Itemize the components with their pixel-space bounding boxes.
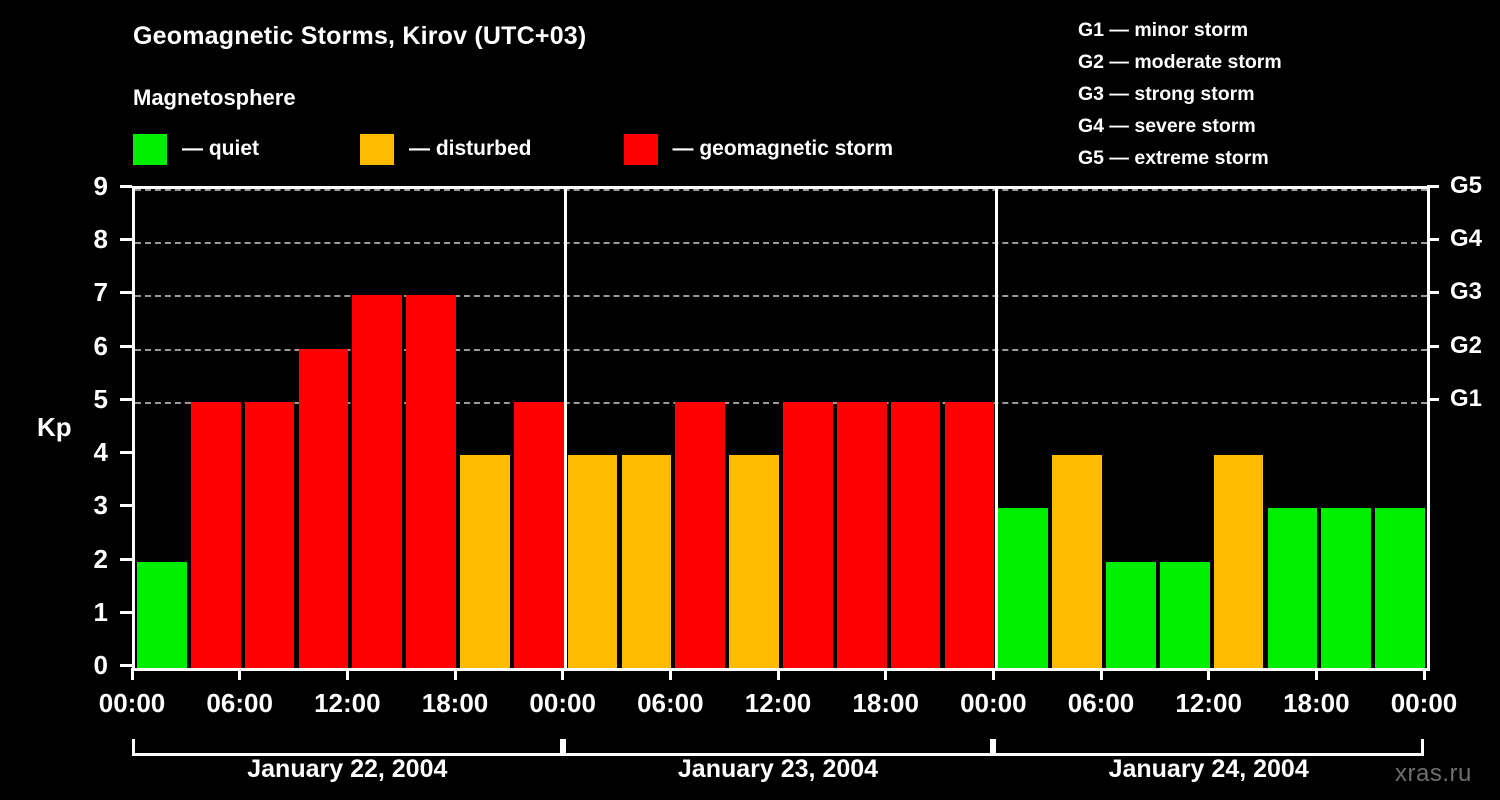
x-tick-mark-0 bbox=[131, 668, 134, 680]
bar[interactable] bbox=[299, 349, 349, 668]
bar[interactable] bbox=[837, 402, 887, 668]
x-tick-label-1: 06:00 bbox=[180, 690, 300, 716]
y-axis-title: Kp bbox=[37, 412, 72, 443]
y-tick-mark-5 bbox=[120, 398, 132, 401]
x-tick-mark-10 bbox=[1207, 668, 1210, 680]
bar[interactable] bbox=[1052, 455, 1102, 668]
bar[interactable] bbox=[945, 402, 995, 668]
x-tick-label-4: 00:00 bbox=[503, 690, 623, 716]
y-tick-mark-4 bbox=[120, 451, 132, 454]
legend-label-quiet: — quiet bbox=[182, 137, 259, 161]
x-tick-label-8: 00:00 bbox=[933, 690, 1053, 716]
y-tick-mark-8 bbox=[120, 238, 132, 241]
plot-inner bbox=[135, 189, 1427, 668]
g-tick-label-G5: G5 bbox=[1450, 174, 1500, 198]
bar[interactable] bbox=[460, 455, 510, 668]
page-title: Geomagnetic Storms, Kirov (UTC+03) bbox=[133, 22, 586, 51]
y-tick-label-3: 3 bbox=[68, 492, 108, 518]
x-tick-label-11: 18:00 bbox=[1256, 690, 1376, 716]
x-tick-label-5: 06:00 bbox=[610, 690, 730, 716]
y-tick-label-9: 9 bbox=[68, 173, 108, 199]
bar[interactable] bbox=[675, 402, 725, 668]
y-tick-label-7: 7 bbox=[68, 279, 108, 305]
legend-item-storm: — geomagnetic storm bbox=[624, 133, 894, 165]
y-tick-mark-0 bbox=[120, 664, 132, 667]
day-label: January 24, 2004 bbox=[993, 755, 1424, 784]
x-tick-mark-8 bbox=[992, 668, 995, 680]
g-tick-label-G2: G2 bbox=[1450, 334, 1500, 358]
bar[interactable] bbox=[1321, 508, 1371, 668]
g-tick-label-G1: G1 bbox=[1450, 387, 1500, 411]
bar[interactable] bbox=[352, 295, 402, 668]
x-tick-label-9: 06:00 bbox=[1041, 690, 1161, 716]
gscale-row-1: G1 — minor storm bbox=[1078, 14, 1478, 46]
legend-heading: Magnetosphere bbox=[133, 85, 296, 111]
bar[interactable] bbox=[1375, 508, 1425, 668]
x-tick-mark-4 bbox=[561, 668, 564, 680]
x-tick-mark-9 bbox=[1100, 668, 1103, 680]
g-tick-mark-G2 bbox=[1427, 345, 1439, 348]
bar[interactable] bbox=[1160, 562, 1210, 668]
legend-swatch-storm-icon bbox=[624, 134, 658, 165]
legend-label-disturbed: — disturbed bbox=[409, 137, 532, 161]
magnetosphere-legend: — quiet— disturbed— geomagnetic storm bbox=[133, 133, 893, 165]
day-bracket bbox=[993, 739, 1424, 756]
bar[interactable] bbox=[1268, 508, 1318, 668]
day-bracket bbox=[563, 739, 994, 756]
chart-plot-area bbox=[132, 186, 1430, 671]
y-tick-mark-3 bbox=[120, 504, 132, 507]
y-tick-mark-7 bbox=[120, 291, 132, 294]
bar[interactable] bbox=[568, 455, 618, 668]
x-tick-label-2: 12:00 bbox=[287, 690, 407, 716]
legend-label-storm: — geomagnetic storm bbox=[673, 137, 894, 161]
y-tick-label-4: 4 bbox=[68, 439, 108, 465]
gscale-row-2: G2 — moderate storm bbox=[1078, 46, 1478, 78]
x-tick-mark-6 bbox=[777, 668, 780, 680]
bar[interactable] bbox=[1106, 562, 1156, 668]
gscale-row-3: G3 — strong storm bbox=[1078, 78, 1478, 110]
g-tick-mark-G4 bbox=[1427, 238, 1439, 241]
bar[interactable] bbox=[191, 402, 241, 668]
bar[interactable] bbox=[1214, 455, 1264, 668]
g-tick-mark-G5 bbox=[1427, 185, 1439, 188]
y-tick-label-1: 1 bbox=[68, 599, 108, 625]
y-tick-label-6: 6 bbox=[68, 333, 108, 359]
g-tick-mark-G3 bbox=[1427, 291, 1439, 294]
bar[interactable] bbox=[783, 402, 833, 668]
bar[interactable] bbox=[891, 402, 941, 668]
x-tick-mark-12 bbox=[1423, 668, 1426, 680]
bar[interactable] bbox=[514, 402, 564, 668]
gridline-kp-8 bbox=[135, 242, 1427, 244]
y-tick-label-5: 5 bbox=[68, 386, 108, 412]
x-tick-mark-11 bbox=[1315, 668, 1318, 680]
x-tick-mark-1 bbox=[238, 668, 241, 680]
y-tick-label-2: 2 bbox=[68, 546, 108, 572]
day-label: January 23, 2004 bbox=[563, 755, 994, 784]
day-separator bbox=[995, 189, 998, 668]
y-tick-label-8: 8 bbox=[68, 226, 108, 252]
bar[interactable] bbox=[998, 508, 1048, 668]
day-separator bbox=[564, 189, 567, 668]
x-tick-label-0: 00:00 bbox=[72, 690, 192, 716]
y-tick-mark-2 bbox=[120, 558, 132, 561]
x-tick-label-12: 00:00 bbox=[1364, 690, 1484, 716]
gscale-key: G1 — minor stormG2 — moderate stormG3 — … bbox=[1078, 14, 1478, 174]
x-tick-mark-5 bbox=[669, 668, 672, 680]
x-tick-mark-7 bbox=[884, 668, 887, 680]
g-tick-mark-G1 bbox=[1427, 398, 1439, 401]
bar[interactable] bbox=[406, 295, 456, 668]
legend-swatch-disturbed-icon bbox=[360, 134, 394, 165]
y-tick-label-0: 0 bbox=[68, 652, 108, 678]
y-tick-mark-6 bbox=[120, 345, 132, 348]
x-tick-mark-2 bbox=[346, 668, 349, 680]
bar[interactable] bbox=[137, 562, 187, 668]
x-tick-label-3: 18:00 bbox=[395, 690, 515, 716]
y-tick-mark-1 bbox=[120, 611, 132, 614]
legend-item-quiet: — quiet bbox=[133, 133, 259, 165]
legend-swatch-quiet-icon bbox=[133, 134, 167, 165]
g-tick-label-G3: G3 bbox=[1450, 280, 1500, 304]
bar[interactable] bbox=[245, 402, 295, 668]
day-label: January 22, 2004 bbox=[132, 755, 563, 784]
x-tick-label-10: 12:00 bbox=[1149, 690, 1269, 716]
gridline-kp-9 bbox=[135, 189, 1427, 191]
gscale-row-4: G4 — severe storm bbox=[1078, 110, 1478, 142]
x-tick-mark-3 bbox=[454, 668, 457, 680]
day-bracket bbox=[132, 739, 563, 756]
x-tick-label-7: 18:00 bbox=[826, 690, 946, 716]
x-tick-label-6: 12:00 bbox=[718, 690, 838, 716]
bar[interactable] bbox=[729, 455, 779, 668]
y-tick-mark-9 bbox=[120, 185, 132, 188]
gscale-row-5: G5 — extreme storm bbox=[1078, 142, 1478, 174]
legend-item-disturbed: — disturbed bbox=[360, 133, 532, 165]
watermark: xras.ru bbox=[1395, 760, 1472, 788]
g-tick-label-G4: G4 bbox=[1450, 227, 1500, 251]
gridline-kp-7 bbox=[135, 295, 1427, 297]
bar[interactable] bbox=[622, 455, 672, 668]
